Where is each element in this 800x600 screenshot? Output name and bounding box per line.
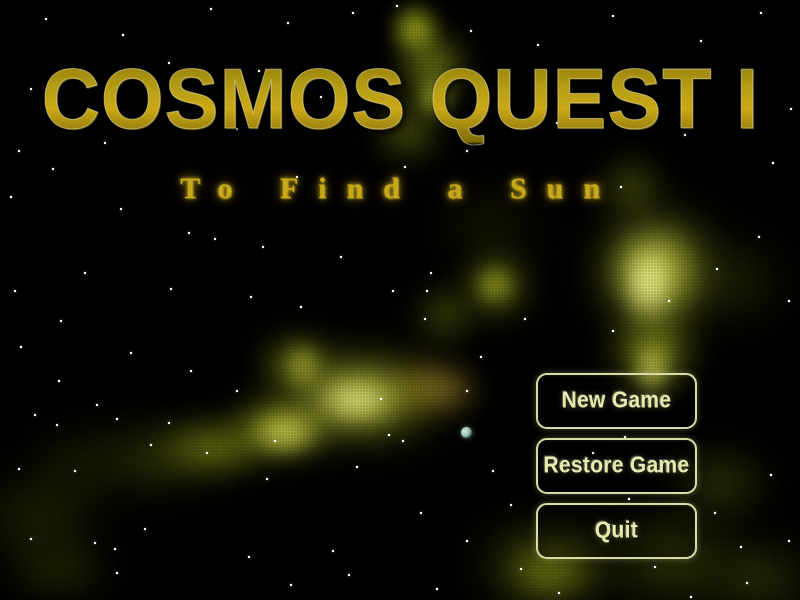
star	[348, 574, 350, 576]
nebula-blob	[222, 392, 342, 464]
nebula-blob	[0, 536, 120, 600]
star	[620, 186, 622, 188]
nebula-blob	[598, 196, 716, 346]
star	[170, 288, 172, 290]
star	[430, 272, 432, 274]
nebula-blob	[596, 152, 666, 222]
nebula-blob	[452, 250, 542, 322]
star	[188, 232, 190, 234]
star	[96, 404, 98, 406]
star	[116, 418, 118, 420]
nebula-blob	[316, 378, 396, 422]
nebula-blob	[96, 430, 216, 486]
star	[668, 300, 670, 302]
nebula-blob	[412, 368, 484, 410]
star	[10, 196, 12, 198]
star	[524, 318, 526, 320]
star	[168, 422, 170, 424]
star	[788, 540, 790, 542]
star	[14, 290, 16, 292]
star	[236, 390, 238, 392]
star	[746, 582, 748, 584]
quit-label: Quit	[595, 518, 638, 544]
star	[74, 470, 76, 472]
star	[296, 176, 298, 178]
nebula-blob	[418, 70, 452, 126]
star	[700, 40, 702, 42]
star	[206, 452, 208, 454]
star	[18, 150, 20, 152]
nebula-blob	[152, 416, 278, 480]
star	[520, 568, 522, 570]
star	[18, 468, 20, 470]
nebula-blob	[400, 22, 464, 110]
star	[168, 62, 170, 64]
nebula-blob	[282, 340, 324, 392]
nebula-blob	[296, 366, 414, 432]
star	[340, 256, 342, 258]
main-menu: New Game Restore Game Quit	[536, 373, 697, 559]
star	[34, 414, 36, 416]
star	[470, 30, 472, 32]
nebula-blob	[246, 408, 324, 458]
game-title-screen: COSMOS QUEST I COSMOS QUEST I To Find a …	[0, 0, 800, 600]
star	[466, 150, 468, 152]
star	[424, 318, 426, 320]
star	[262, 246, 264, 248]
planet	[461, 427, 472, 438]
star	[714, 512, 716, 514]
star	[130, 352, 132, 354]
game-title-highlight: COSMOS QUEST I	[41, 57, 759, 142]
star	[537, 44, 539, 46]
star	[388, 434, 390, 436]
star	[300, 306, 302, 308]
star	[788, 300, 790, 302]
nebula-blob	[24, 438, 140, 488]
nebula-blob	[616, 212, 690, 334]
star	[480, 356, 482, 358]
nebula-blob	[280, 352, 450, 442]
star	[740, 546, 742, 548]
star	[466, 390, 468, 392]
star	[274, 440, 276, 442]
nebula-blob	[372, 96, 444, 166]
nebula-blob	[408, 286, 482, 344]
star	[612, 330, 614, 332]
nebula-blob	[378, 360, 474, 416]
star	[716, 268, 718, 270]
star	[58, 380, 60, 382]
star	[52, 168, 54, 170]
star	[332, 550, 334, 552]
new-game-label: New Game	[562, 388, 672, 414]
star	[770, 474, 772, 476]
star	[84, 272, 86, 274]
star	[120, 208, 122, 210]
star	[30, 88, 32, 90]
star	[248, 556, 250, 558]
star	[758, 236, 760, 238]
star	[150, 444, 152, 446]
star	[772, 162, 774, 164]
game-title: COSMOS QUEST I	[41, 57, 759, 142]
nebula-blob	[392, 0, 438, 64]
nebula-blob	[700, 236, 780, 326]
nebula-blob	[430, 190, 550, 260]
star	[214, 238, 216, 240]
new-game-button[interactable]: New Game	[536, 373, 697, 429]
subtitle-container: To Find a Sun	[0, 172, 800, 206]
star	[556, 122, 558, 124]
star	[466, 540, 468, 542]
star	[236, 128, 238, 130]
star	[612, 15, 614, 17]
star	[745, 72, 747, 74]
star	[250, 296, 252, 298]
star	[402, 440, 404, 442]
star	[356, 466, 358, 468]
star	[287, 22, 289, 24]
star	[94, 542, 96, 544]
star	[492, 470, 494, 472]
star	[558, 592, 560, 594]
title-container: COSMOS QUEST I	[0, 62, 800, 138]
title-highlight-container: COSMOS QUEST I	[0, 62, 800, 138]
nebula-blob	[630, 230, 666, 340]
star	[690, 596, 692, 598]
star	[30, 538, 32, 540]
star	[20, 346, 22, 348]
star	[790, 108, 792, 110]
star	[78, 118, 80, 120]
nebula-blob	[470, 262, 520, 308]
star	[116, 572, 118, 574]
star	[426, 290, 428, 292]
restore-game-label: Restore Game	[544, 453, 690, 479]
star	[114, 548, 116, 550]
star	[210, 8, 212, 10]
star	[404, 166, 406, 168]
star	[258, 70, 260, 72]
quit-button[interactable]: Quit	[536, 503, 697, 559]
star	[45, 18, 47, 20]
star	[436, 588, 438, 590]
nebula-blob	[0, 474, 110, 564]
star	[684, 134, 686, 136]
star	[122, 34, 124, 36]
star	[320, 96, 322, 98]
star	[104, 142, 106, 144]
star	[190, 370, 192, 372]
star	[760, 12, 762, 14]
star	[392, 290, 394, 292]
star	[266, 478, 268, 480]
game-subtitle: To Find a Sun	[180, 172, 620, 206]
star	[380, 398, 382, 400]
nebula-blob	[254, 330, 340, 400]
star	[144, 528, 146, 530]
star	[654, 566, 656, 568]
restore-game-button[interactable]: Restore Game	[536, 438, 697, 494]
star	[56, 424, 58, 426]
nebula-blob	[700, 544, 800, 600]
star	[290, 584, 292, 586]
star	[420, 512, 422, 514]
star	[352, 12, 354, 14]
star	[510, 504, 512, 506]
star	[396, 5, 398, 7]
star	[60, 320, 62, 322]
